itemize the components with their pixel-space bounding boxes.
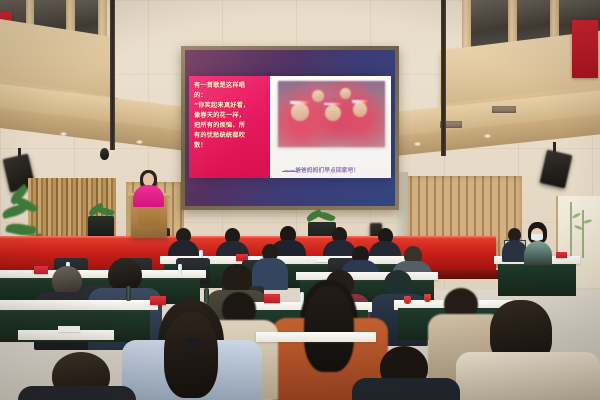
photo-performer-head-1 [291, 103, 309, 120]
slide-text-panel: 有一首歌是这样唱 的： “你笑起来真好看， 像春天的花一样， 把所有的烦恼、所 … [189, 76, 270, 178]
table-foreground-top [256, 332, 376, 342]
photo-headband-3 [352, 100, 368, 103]
name-card-row1 [150, 296, 166, 305]
fg-dark-right-body [352, 378, 460, 400]
stage-paper-1 [315, 257, 329, 262]
ceiling-downlight-1 [60, 132, 67, 136]
attendee-rust-ponytail [304, 286, 354, 372]
control-desk-name-card [556, 252, 567, 258]
slide-caption: ——爸爸妈妈们早点回家吧！ [284, 166, 385, 174]
slide-line-2: 的： [194, 91, 266, 101]
wall-seam-right [441, 0, 446, 156]
bamboo-stem-2 [582, 210, 584, 258]
bamboo-leaf-3 [583, 219, 592, 224]
red-cup-1 [404, 296, 411, 304]
attendee-navy-head [108, 258, 142, 292]
paper-foreground [58, 326, 80, 332]
slide-line-3: “你笑起来真好看， [194, 101, 266, 111]
lectern-front-panel [138, 206, 160, 226]
red-cup-2 [424, 294, 431, 302]
control-desk-skirt [498, 262, 576, 296]
conference-hall-screenshot: 有一首歌是这样唱 的： “你笑起来真好看， 像春天的花一样， 把所有的烦恼、所 … [0, 0, 600, 400]
slide-line-6: 有的忧愁统统都吹 [194, 131, 266, 141]
fg-right-body [456, 352, 600, 400]
name-card-row1-b [264, 294, 280, 303]
air-vent-right-1 [492, 106, 516, 113]
photo-headband-1 [290, 101, 310, 104]
presenter-jacket [133, 185, 164, 207]
wall-seam-left [110, 0, 115, 150]
face-mask [531, 234, 543, 240]
photo-headband-2 [324, 103, 342, 106]
fg-left-body [18, 386, 136, 400]
ceiling-downlight-3 [414, 142, 421, 146]
water-bottle-row3-2 [178, 264, 182, 275]
slide-line-7: 散！ [194, 141, 266, 151]
table-row1-top-left [0, 300, 158, 310]
slide-line-4: 像春天的花一样， [194, 111, 266, 121]
table-row3-top-right [296, 272, 438, 280]
thermos-row1 [126, 286, 131, 301]
photo-performer-head-2 [325, 105, 341, 121]
slide-embedded-photo [278, 81, 385, 147]
ceiling-downlight-2 [136, 140, 143, 144]
phone-on-table[interactable] [186, 338, 200, 347]
led-display[interactable]: 有一首歌是这样唱 的： “你笑起来真好看， 像春天的花一样， 把所有的烦恼、所 … [181, 46, 399, 210]
bamboo-leaf-1 [572, 212, 581, 219]
name-card-row3-1 [34, 266, 48, 274]
slide-line-5: 把所有的烦恼、所 [194, 121, 266, 131]
presentation-slide: 有一首歌是这样唱 的： “你笑起来真好看， 像春天的花一样， 把所有的烦恼、所 … [189, 76, 391, 178]
stage-planter-left [88, 216, 114, 238]
photo-performer-head-5 [340, 88, 351, 99]
red-banner-right [572, 20, 598, 78]
av-operator-2-body [524, 241, 552, 265]
table-row3-top-left [0, 270, 206, 278]
led-display-surface: 有一首歌是这样唱 的： “你笑起来真好看， 像春天的花一样， 把所有的烦恼、所 … [185, 50, 395, 206]
window-mullion-right-1 [462, 0, 471, 52]
cctv-camera-icon [100, 148, 109, 160]
thermos-row1-b [204, 288, 209, 303]
slide-photo-panel: ——爸爸妈妈们早点回家吧！ [270, 76, 391, 178]
photo-performer-head-4 [312, 90, 324, 102]
ceiling-downlight-4 [484, 134, 491, 138]
foreground-hair-fall [164, 312, 218, 398]
bamboo-stem-1 [570, 202, 572, 260]
photo-performer-head-3 [353, 102, 367, 117]
slide-line-1: 有一首歌是这样唱 [194, 81, 266, 91]
